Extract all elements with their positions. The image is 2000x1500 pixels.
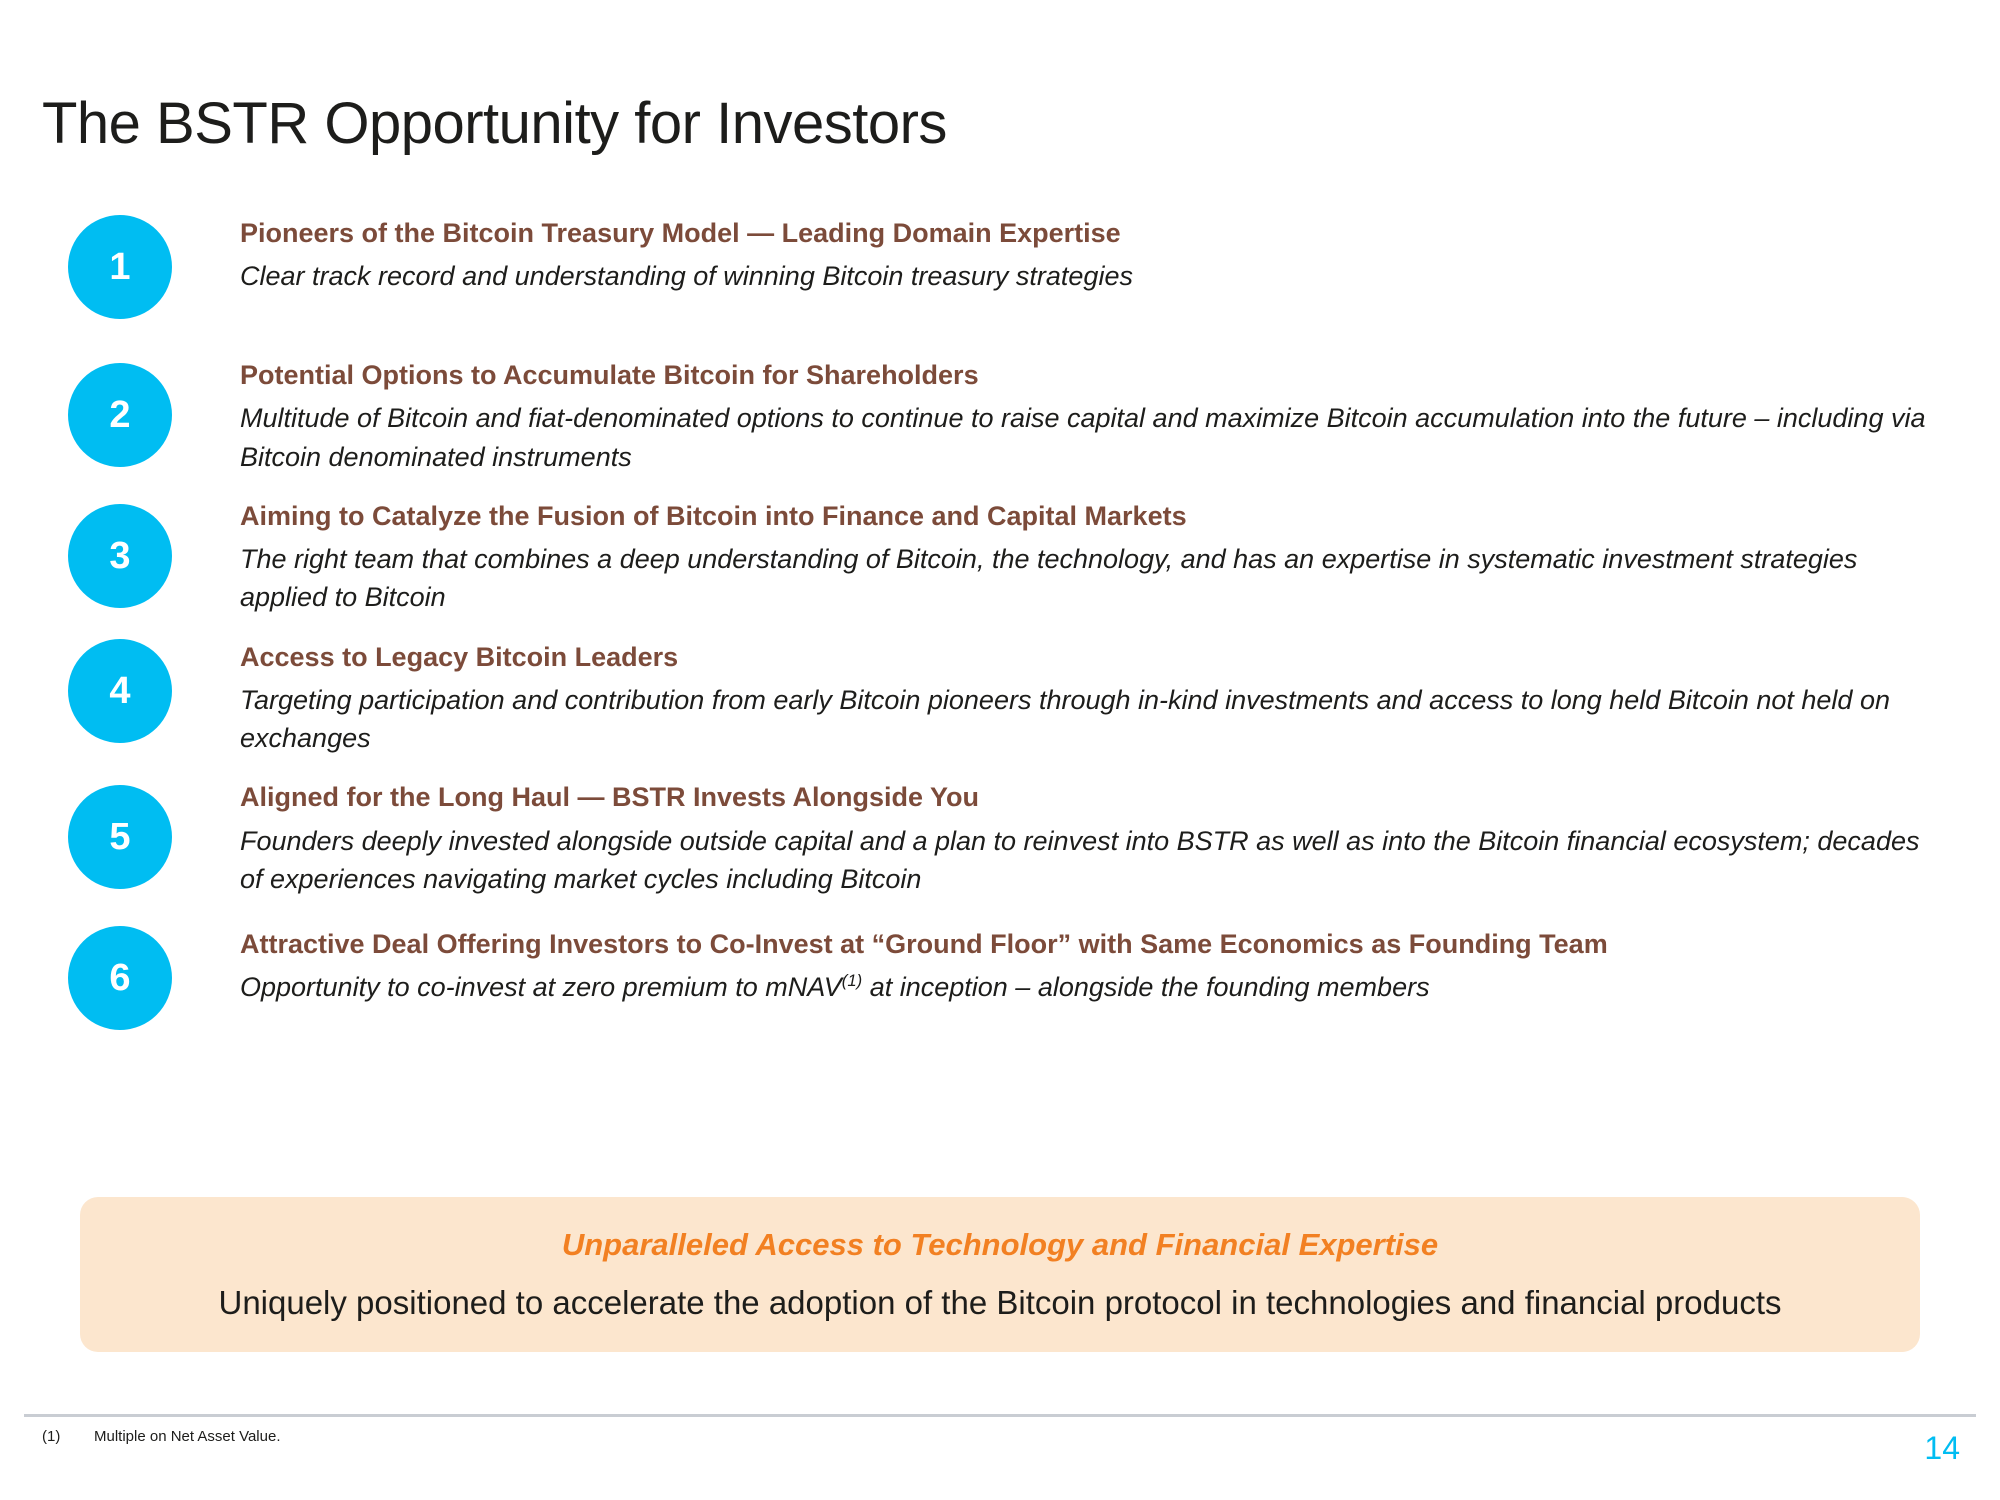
footnote-reference: (1) (842, 971, 862, 990)
number-badge: 2 (68, 363, 172, 467)
point-body: The right team that combines a deep unde… (240, 540, 1940, 617)
points-list: 1 Pioneers of the Bitcoin Treasury Model… (0, 215, 2000, 1030)
point-heading: Attractive Deal Offering Investors to Co… (240, 926, 1940, 962)
point-heading: Potential Options to Accumulate Bitcoin … (240, 357, 1940, 393)
point-text: Aiming to Catalyze the Fusion of Bitcoin… (240, 498, 2000, 617)
list-item: 5 Aligned for the Long Haul — BSTR Inves… (0, 779, 2000, 898)
number-badge: 1 (68, 215, 172, 319)
point-body: Multitude of Bitcoin and fiat-denominate… (240, 399, 1940, 476)
point-heading: Aligned for the Long Haul — BSTR Invests… (240, 779, 1940, 815)
slide: The BSTR Opportunity for Investors 1 Pio… (0, 0, 2000, 1500)
number-badge: 4 (68, 639, 172, 743)
point-text: Attractive Deal Offering Investors to Co… (240, 926, 2000, 1007)
point-body: Founders deeply invested alongside outsi… (240, 822, 1940, 899)
callout-heading: Unparalleled Access to Technology and Fi… (562, 1226, 1438, 1263)
page-title: The BSTR Opportunity for Investors (42, 90, 947, 157)
badge-cell: 1 (0, 215, 240, 319)
point-text: Access to Legacy Bitcoin Leaders Targeti… (240, 639, 2000, 758)
point-heading: Aiming to Catalyze the Fusion of Bitcoin… (240, 498, 1940, 534)
point-text: Pioneers of the Bitcoin Treasury Model —… (240, 215, 2000, 296)
list-item: 4 Access to Legacy Bitcoin Leaders Targe… (0, 639, 2000, 758)
highlight-callout-box: Unparalleled Access to Technology and Fi… (80, 1197, 1920, 1352)
point-body: Opportunity to co-invest at zero premium… (240, 968, 1940, 1006)
list-item: 2 Potential Options to Accumulate Bitcoi… (0, 357, 2000, 476)
badge-cell: 4 (0, 639, 240, 743)
list-item: 6 Attractive Deal Offering Investors to … (0, 926, 2000, 1030)
number-badge: 6 (68, 926, 172, 1030)
footnote-marker: (1) (42, 1428, 94, 1445)
footnote: (1) Multiple on Net Asset Value. (42, 1428, 281, 1445)
badge-cell: 3 (0, 498, 240, 608)
point-text: Aligned for the Long Haul — BSTR Invests… (240, 779, 2000, 898)
list-item: 3 Aiming to Catalyze the Fusion of Bitco… (0, 498, 2000, 617)
badge-cell: 5 (0, 779, 240, 889)
point-heading: Pioneers of the Bitcoin Treasury Model —… (240, 215, 1940, 251)
point-text: Potential Options to Accumulate Bitcoin … (240, 357, 2000, 476)
footer-divider (24, 1414, 1976, 1417)
badge-cell: 6 (0, 926, 240, 1030)
point-body-before: Opportunity to co-invest at zero premium… (240, 972, 842, 1002)
point-body: Clear track record and understanding of … (240, 257, 1940, 295)
footnote-text: Multiple on Net Asset Value. (94, 1428, 281, 1445)
number-badge: 5 (68, 785, 172, 889)
list-item: 1 Pioneers of the Bitcoin Treasury Model… (0, 215, 2000, 319)
point-body-after: at inception – alongside the founding me… (862, 972, 1429, 1002)
page-number: 14 (1924, 1430, 1960, 1467)
callout-body: Uniquely positioned to accelerate the ad… (218, 1283, 1781, 1323)
number-badge: 3 (68, 504, 172, 608)
badge-cell: 2 (0, 357, 240, 467)
point-heading: Access to Legacy Bitcoin Leaders (240, 639, 1940, 675)
point-body: Targeting participation and contribution… (240, 681, 1940, 758)
